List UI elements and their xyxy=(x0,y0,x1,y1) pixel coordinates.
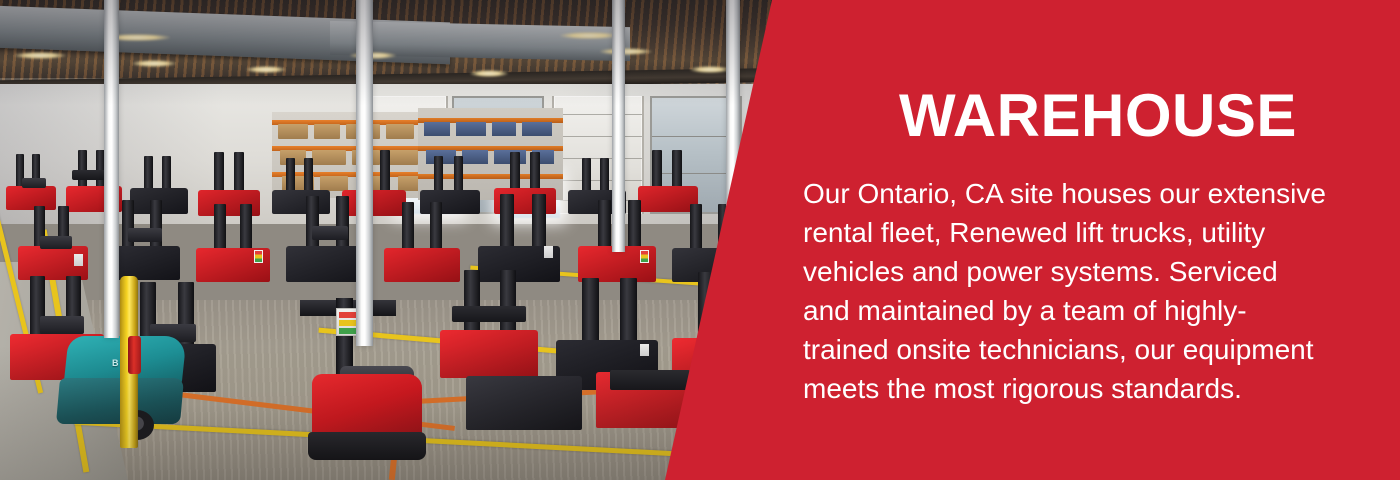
lift-truck xyxy=(466,368,584,430)
structural-column-1 xyxy=(104,0,119,338)
lift-truck xyxy=(440,270,540,378)
fire-extinguisher xyxy=(128,336,141,374)
ceiling-lights xyxy=(0,22,800,82)
structural-column-3 xyxy=(612,0,625,252)
lift-truck xyxy=(478,194,562,282)
lift-truck xyxy=(6,154,58,210)
inspection-tag xyxy=(336,308,358,336)
banner-content: WAREHOUSE Our Ontario, CA site houses ou… xyxy=(803,86,1343,408)
structural-column-2 xyxy=(356,0,373,346)
lift-truck xyxy=(18,206,90,280)
warehouse-hero-banner: B 200 WAREHOUSE Our Ontario, CA s xyxy=(0,0,1400,480)
description-text: Our Ontario, CA site houses our extensiv… xyxy=(803,174,1331,408)
truck-chassis xyxy=(308,432,426,460)
warehouse-photo: B 200 xyxy=(0,0,800,480)
page-title: WAREHOUSE xyxy=(899,86,1343,146)
lift-truck xyxy=(196,204,272,282)
